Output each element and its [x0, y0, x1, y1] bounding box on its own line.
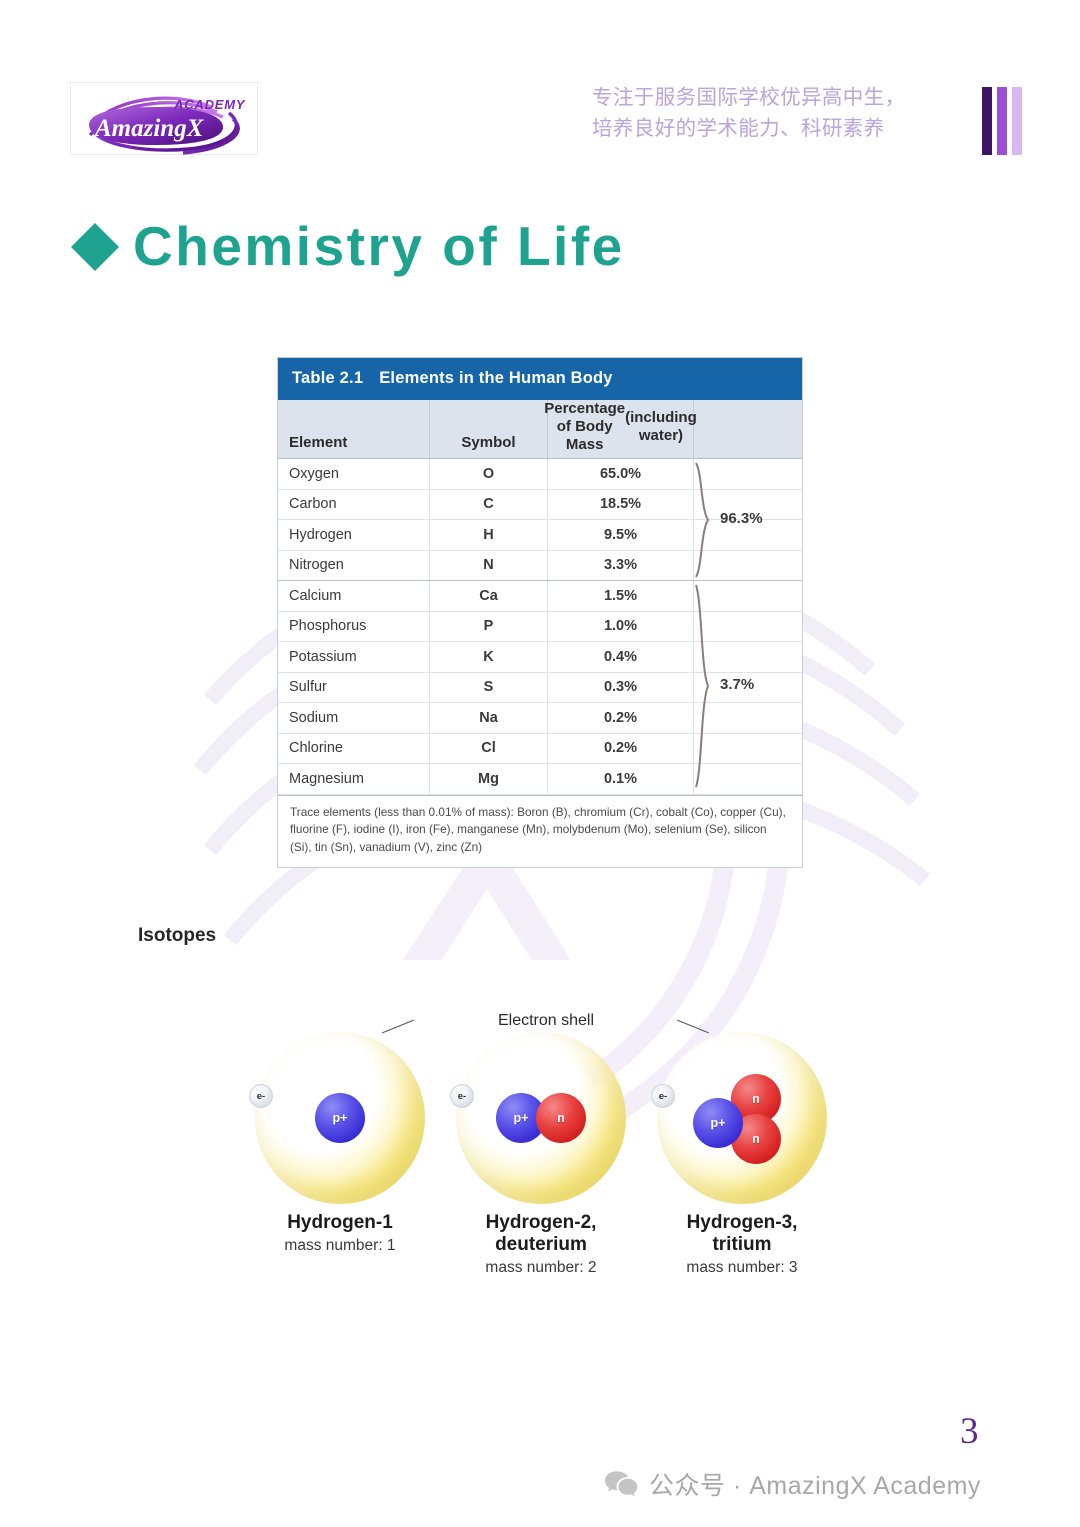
- cell-element: Carbon: [278, 490, 430, 520]
- cell-symbol: O: [430, 459, 548, 489]
- electron-particle: e-: [450, 1084, 474, 1108]
- footer-brand: 公众号 · AmazingX Academy: [604, 1466, 981, 1502]
- proton-particle: p+: [693, 1098, 743, 1148]
- atom-mass-number: mass number: 3: [642, 1259, 842, 1277]
- table-row: Phosphorus P 1.0%: [278, 612, 802, 643]
- accent-bar-2: [997, 87, 1007, 155]
- diamond-bullet-icon: [71, 222, 119, 270]
- atom-mass-number: mass number: 2: [441, 1259, 641, 1277]
- cell-percentage: 1.5%: [548, 581, 694, 611]
- table-footnote: Trace elements (less than 0.01% of mass)…: [278, 795, 802, 868]
- column-header-group: [694, 400, 802, 458]
- cell-element: Sodium: [278, 703, 430, 733]
- table-row: Calcium Ca 1.5%: [278, 581, 802, 612]
- wechat-icon: [604, 1470, 638, 1498]
- cell-percentage: 0.3%: [548, 673, 694, 703]
- cell-symbol: H: [430, 520, 548, 550]
- cell-group: [694, 734, 802, 764]
- atom-name: Hydrogen-3, tritium: [642, 1212, 842, 1256]
- table-row: Nitrogen N 3.3%: [278, 551, 802, 582]
- cell-element: Chlorine: [278, 734, 430, 764]
- page-number: 3: [960, 1410, 979, 1453]
- cell-group: [694, 459, 802, 489]
- group-total-major: 96.3%: [720, 510, 763, 527]
- cell-symbol: P: [430, 612, 548, 642]
- table-number: Table 2.1: [292, 369, 363, 388]
- electron-particle: e-: [249, 1084, 273, 1108]
- cell-percentage: 0.1%: [548, 764, 694, 794]
- table-caption: Table 2.1 Elements in the Human Body: [278, 358, 802, 400]
- cell-group: [694, 703, 802, 733]
- column-header-percentage-line1: Percentage of Body Mass: [544, 400, 625, 454]
- cell-element: Oxygen: [278, 459, 430, 489]
- cell-group: [694, 551, 802, 581]
- svg-text:AmazingX: AmazingX: [93, 115, 205, 142]
- table-row: Potassium K 0.4%: [278, 642, 802, 673]
- nucleus: p+ n: [448, 1032, 634, 1204]
- atom-name: Hydrogen-1: [240, 1212, 440, 1234]
- atom-hydrogen-1: e- p+ Hydrogen-1 mass number: 1: [240, 1032, 440, 1255]
- atom-mass-number: mass number: 1: [240, 1237, 440, 1255]
- column-header-percentage-line2: (including water): [625, 409, 697, 445]
- cell-symbol: S: [430, 673, 548, 703]
- cell-group: [694, 764, 802, 794]
- cell-percentage: 18.5%: [548, 490, 694, 520]
- cell-element: Hydrogen: [278, 520, 430, 550]
- table-row: Oxygen O 65.0%: [278, 459, 802, 490]
- table-row: Chlorine Cl 0.2%: [278, 734, 802, 765]
- cell-percentage: 0.2%: [548, 703, 694, 733]
- cell-element: Sulfur: [278, 673, 430, 703]
- isotopes-section-label: Isotopes: [138, 925, 216, 947]
- cell-percentage: 65.0%: [548, 459, 694, 489]
- svg-text:ACADEMY: ACADEMY: [173, 97, 246, 112]
- table-body: Oxygen O 65.0% Carbon C 18.5% Hydrogen H…: [278, 459, 802, 795]
- electron-particle: e-: [651, 1084, 675, 1108]
- cell-group: [694, 581, 802, 611]
- atom-name: Hydrogen-2, deuterium: [441, 1212, 641, 1256]
- cell-symbol: K: [430, 642, 548, 672]
- cell-element: Magnesium: [278, 764, 430, 794]
- cell-percentage: 3.3%: [548, 551, 694, 581]
- proton-particle: p+: [315, 1093, 365, 1143]
- nucleus: n n p+: [649, 1032, 835, 1204]
- nucleus: p+: [247, 1032, 433, 1204]
- page-title-label: Chemistry of Life: [133, 219, 625, 274]
- accent-bar-3: [1012, 87, 1022, 155]
- cell-symbol: Cl: [430, 734, 548, 764]
- cell-symbol: C: [430, 490, 548, 520]
- table-row: Magnesium Mg 0.1%: [278, 764, 802, 795]
- cell-element: Nitrogen: [278, 551, 430, 581]
- header-tagline: 专注于服务国际学校优异高中生， 培养良好的学术能力、科研素养: [592, 82, 972, 144]
- table-column-headers: Element Symbol Percentage of Body Mass (…: [278, 400, 802, 459]
- group-total-minor: 3.7%: [720, 676, 754, 693]
- table-caption-text: Elements in the Human Body: [379, 369, 613, 388]
- cell-percentage: 0.2%: [548, 734, 694, 764]
- cell-percentage: 0.4%: [548, 642, 694, 672]
- cell-symbol: Ca: [430, 581, 548, 611]
- accent-bar-1: [982, 87, 992, 155]
- table-row: Sodium Na 0.2%: [278, 703, 802, 734]
- cell-percentage: 9.5%: [548, 520, 694, 550]
- atom-hydrogen-3: e- n n p+ Hydrogen-3, tritium mass numbe…: [642, 1032, 842, 1277]
- elements-table: Table 2.1 Elements in the Human Body Ele…: [277, 357, 803, 868]
- electron-shell-label-text: Electron shell: [493, 1012, 599, 1029]
- cell-percentage: 1.0%: [548, 612, 694, 642]
- column-header-symbol: Symbol: [430, 400, 548, 458]
- column-header-percentage: Percentage of Body Mass (including water…: [548, 400, 694, 458]
- cell-group: [694, 642, 802, 672]
- page-title: Chemistry of Life: [78, 219, 625, 274]
- header-accent-bars: [982, 87, 1022, 155]
- cell-symbol: N: [430, 551, 548, 581]
- page-header: AmazingX ACADEMY 专注于服务国际学校优异高中生， 培养良好的学术…: [0, 0, 1080, 190]
- cell-element: Phosphorus: [278, 612, 430, 642]
- atom-hydrogen-2: e- p+ n Hydrogen-2, deuterium mass numbe…: [441, 1032, 641, 1277]
- electron-shell-label: Electron shell: [236, 1012, 856, 1030]
- cell-symbol: Na: [430, 703, 548, 733]
- cell-symbol: Mg: [430, 764, 548, 794]
- cell-element: Potassium: [278, 642, 430, 672]
- neutron-particle: n: [536, 1093, 586, 1143]
- cell-element: Calcium: [278, 581, 430, 611]
- cell-group: [694, 612, 802, 642]
- amazingx-logo: AmazingX ACADEMY: [70, 82, 258, 155]
- column-header-element: Element: [278, 400, 430, 458]
- footer-brand-text: 公众号 · AmazingX Academy: [649, 1466, 981, 1502]
- isotopes-figure: Electron shell e- p+ Hydrogen-1 mass num…: [236, 1000, 856, 1290]
